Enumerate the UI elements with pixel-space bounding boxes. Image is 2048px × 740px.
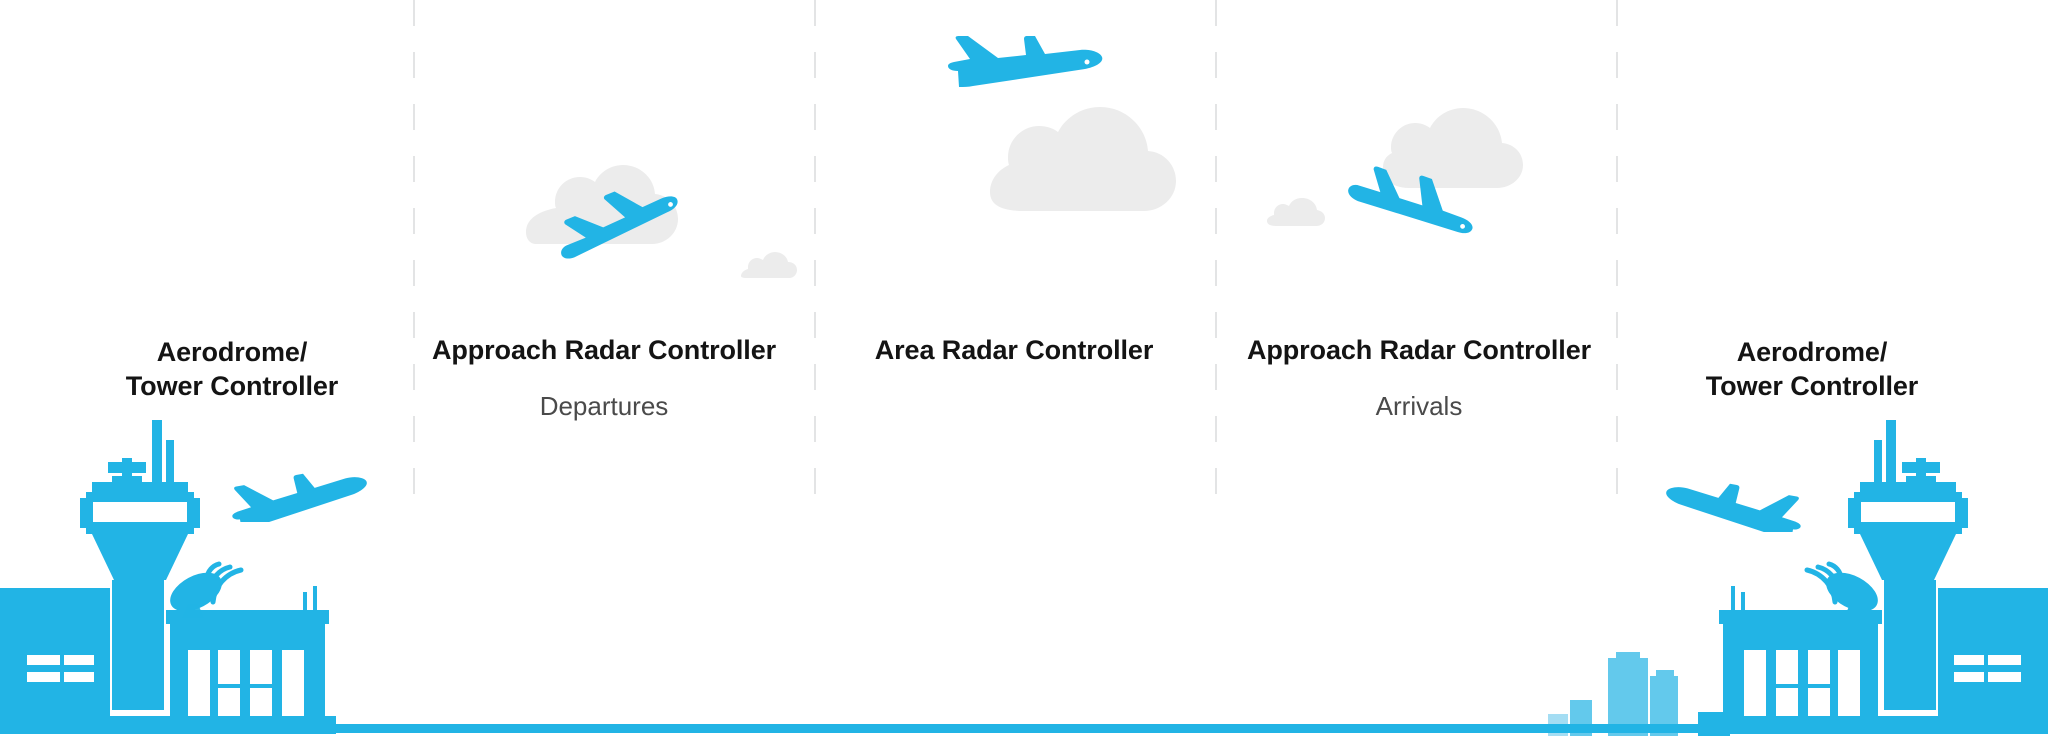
divider-4 [1616, 0, 1618, 520]
divider-3 [1215, 0, 1217, 520]
label-subtitle: Arrivals [1239, 391, 1599, 422]
airplane-tower-right-land [1655, 470, 1805, 532]
label-title: Area Radar Controller [834, 335, 1194, 367]
label-aerodrome-tower-departure: Aerodrome/ Tower Controller [62, 316, 402, 423]
cloud-area-large [990, 105, 1176, 211]
cloud-departures-small [737, 246, 797, 278]
label-approach-radar-departures: Approach Radar Controller Departures [424, 316, 784, 440]
airplane-area-cruise [946, 35, 1106, 95]
airplane-arrivals-descend [1340, 158, 1490, 258]
airplane-tower-left-takeoff [228, 460, 378, 522]
label-title: Aerodrome/ Tower Controller [1642, 335, 1982, 404]
label-title: Aerodrome/ Tower Controller [62, 335, 402, 404]
divider-2 [814, 0, 816, 520]
runway-ground-line [0, 724, 2048, 733]
airport-terminal-tower-right [1668, 410, 2048, 740]
diagram-canvas: Aerodrome/ Tower Controller Approach Rad… [0, 0, 2048, 740]
cloud-arrivals-small [1267, 198, 1325, 226]
airplane-departures-climb [546, 168, 696, 268]
label-aerodrome-tower-arrival: Aerodrome/ Tower Controller [1642, 316, 1982, 423]
label-approach-radar-arrivals: Approach Radar Controller Arrivals [1239, 316, 1599, 440]
label-title: Approach Radar Controller [424, 335, 784, 367]
divider-1 [413, 0, 415, 520]
label-title: Approach Radar Controller [1239, 335, 1599, 367]
label-area-radar: Area Radar Controller [834, 316, 1194, 386]
label-subtitle: Departures [424, 391, 784, 422]
